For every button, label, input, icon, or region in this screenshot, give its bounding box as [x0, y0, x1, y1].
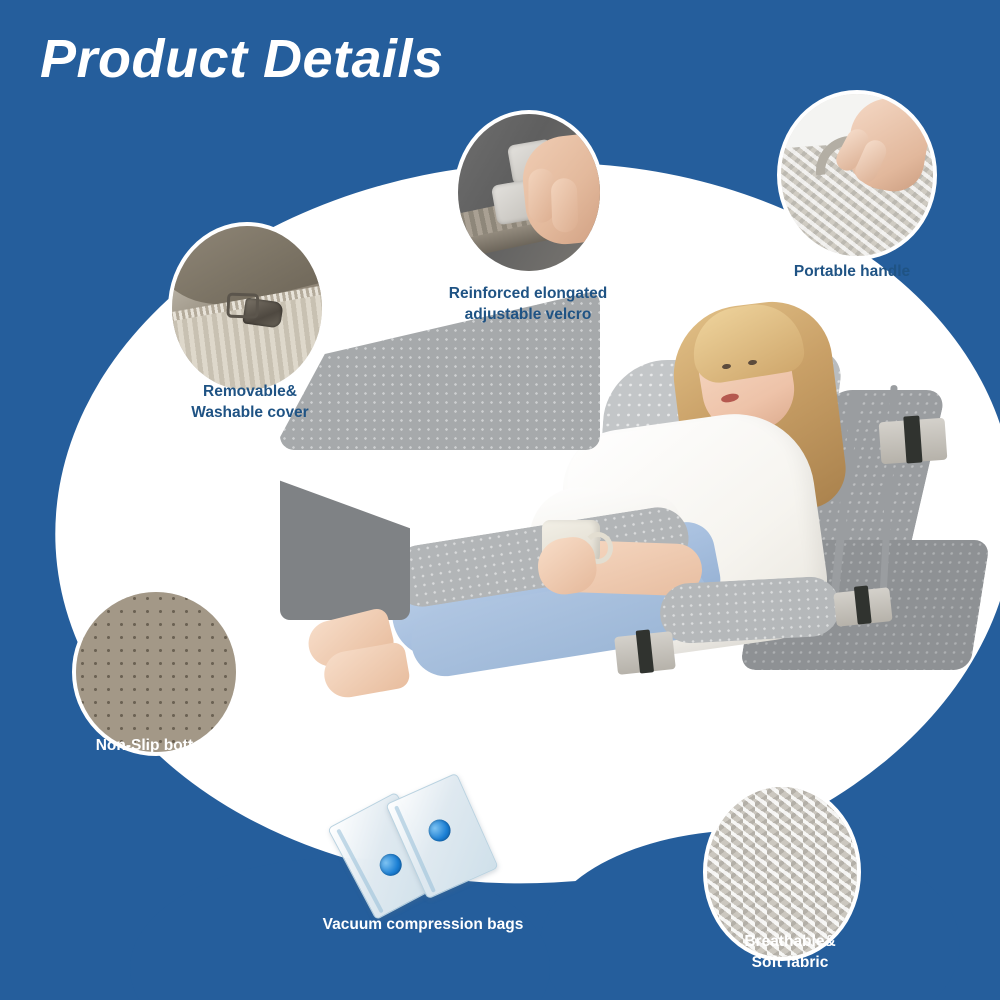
label-portable-handle: Portable handle — [752, 262, 952, 283]
hero-product-scene — [280, 290, 990, 760]
label-non-slip-bottom: Non-Slip bottom — [56, 736, 256, 757]
label-removable-washable-cover: Removable& Washable cover — [160, 382, 340, 424]
label-breathable-soft-fabric: Breathable& Soft fabric — [690, 932, 890, 974]
vacuum-compression-bags-photo — [345, 778, 525, 898]
arm-bolster — [659, 575, 842, 644]
leg-wedge-side — [280, 450, 410, 620]
page-title: Product Details — [40, 28, 444, 90]
zipper-closeup-photo — [168, 222, 326, 394]
product-details-infographic: Product Details — [0, 0, 1000, 1000]
velcro-tab-backrest — [879, 418, 948, 465]
label-reinforced-velcro: Reinforced elongated adjustable velcro — [408, 284, 648, 326]
handle-grip-hand-photo — [777, 90, 937, 260]
label-vacuum-compression-bags: Vacuum compression bags — [288, 915, 558, 936]
velcro-strap-hand-photo — [454, 110, 604, 275]
non-slip-dotted-fabric-photo — [72, 588, 240, 756]
velcro-tab-leg-wedge — [614, 631, 676, 675]
velcro-tab-seat — [833, 587, 892, 627]
